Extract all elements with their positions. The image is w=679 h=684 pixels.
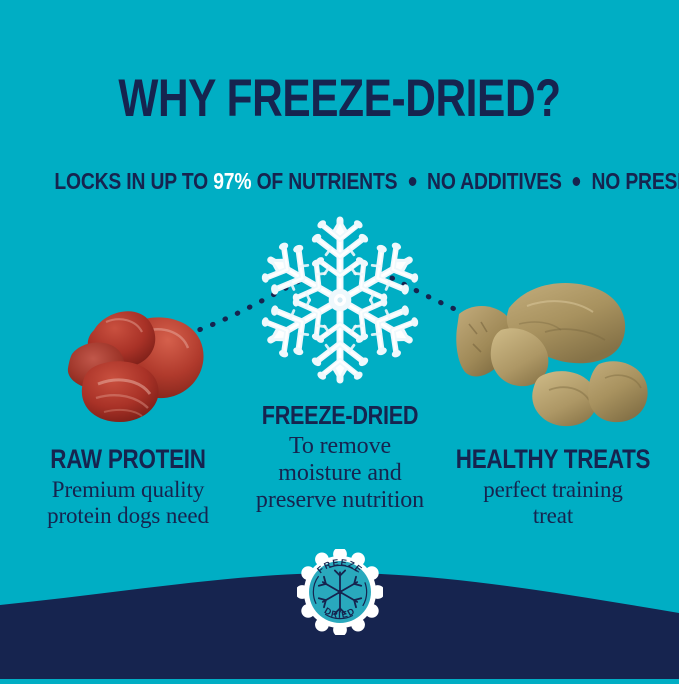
column-body-line: To remove bbox=[228, 433, 452, 460]
column-body-raw-protein: Premium quality protein dogs need bbox=[8, 477, 248, 529]
column-body-line: moisture and bbox=[228, 460, 452, 487]
column-healthy-treats: HEALTHY TREATS perfect training treat bbox=[434, 444, 672, 529]
column-raw-protein: RAW PROTEIN Premium quality protein dogs… bbox=[8, 444, 248, 529]
raw-meat-image bbox=[58, 292, 218, 432]
column-body-line: preserve nutrition bbox=[228, 487, 452, 514]
column-body-line: Premium quality bbox=[8, 477, 248, 503]
claim-percent: 97% bbox=[213, 168, 251, 194]
freeze-dried-treats-image bbox=[455, 272, 655, 432]
bullet-separator-icon bbox=[408, 177, 416, 186]
subtitle-claims: LOCKS IN UP TO 97% OF NUTRIENTS NO ADDIT… bbox=[54, 168, 624, 194]
column-title-raw-protein: RAW PROTEIN bbox=[28, 444, 227, 474]
column-body-freeze-dried: To remove moisture and preserve nutritio… bbox=[228, 433, 452, 514]
infographic-canvas: WHY FREEZE-DRIED? LOCKS IN UP TO 97% OF … bbox=[0, 0, 679, 679]
column-freeze-dried: FREEZE-DRIED To remove moisture and pres… bbox=[228, 400, 452, 514]
column-title-freeze-dried: FREEZE-DRIED bbox=[247, 400, 433, 430]
freeze-dried-badge: FREEZE DRIED bbox=[297, 549, 383, 635]
claim-locks-in: LOCKS IN UP TO bbox=[54, 168, 208, 194]
claim-no-preservatives: NO PRESERVATIVES bbox=[591, 168, 679, 194]
column-body-healthy-treats: perfect training treat bbox=[434, 477, 672, 529]
claim-no-additives: NO ADDITIVES bbox=[427, 168, 562, 194]
page-title: WHY FREEZE-DRIED? bbox=[68, 70, 611, 128]
snowflake-icon bbox=[253, 213, 427, 387]
column-body-line: perfect training bbox=[434, 477, 672, 503]
column-body-line: treat bbox=[434, 503, 672, 529]
claim-nutrients: OF NUTRIENTS bbox=[257, 168, 398, 194]
bullet-separator-icon bbox=[573, 177, 581, 186]
column-title-healthy-treats: HEALTHY TREATS bbox=[454, 444, 652, 474]
column-body-line: protein dogs need bbox=[8, 503, 248, 529]
